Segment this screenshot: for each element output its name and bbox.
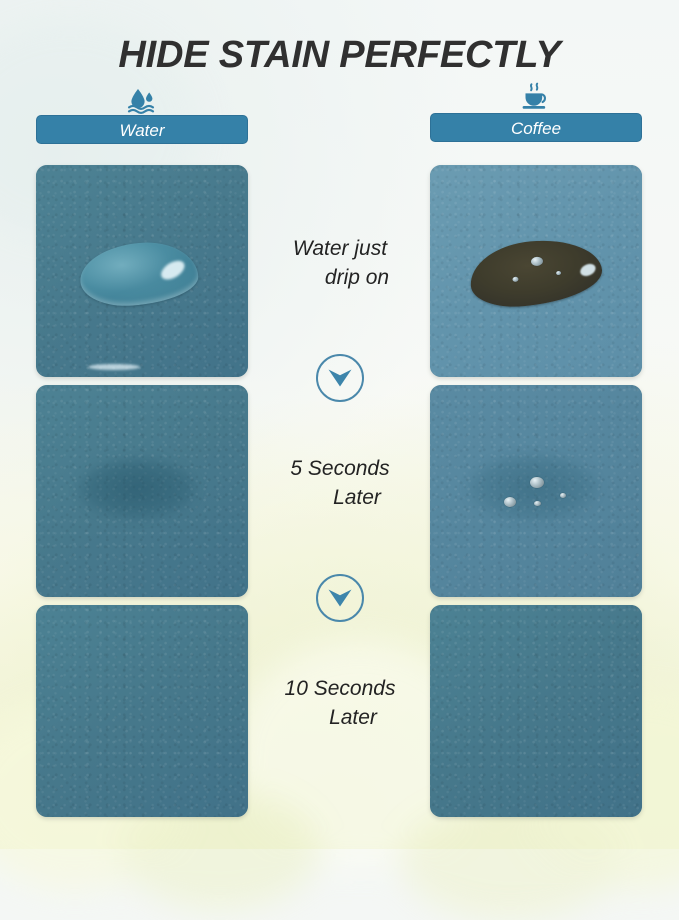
photo-coffee-10s bbox=[430, 605, 642, 817]
residual-bead bbox=[560, 493, 566, 498]
stage-arrow-2 bbox=[249, 574, 431, 622]
column-header-water: Water bbox=[36, 86, 248, 144]
damp-patch bbox=[468, 455, 598, 521]
photo-water-10s bbox=[36, 605, 248, 817]
coffee-bead bbox=[556, 271, 561, 275]
chevron-down-icon bbox=[316, 354, 364, 402]
page-title: HIDE STAIN PERFECTLY bbox=[0, 33, 679, 77]
photo-coffee-5s bbox=[430, 385, 642, 597]
stage-arrow-1 bbox=[249, 354, 431, 402]
puddle-edge-highlight bbox=[88, 364, 140, 370]
stage-label-5s: 5 Seconds Later bbox=[249, 454, 431, 512]
photo-water-drip bbox=[36, 165, 248, 377]
water-drop-icon bbox=[36, 86, 248, 114]
coffee-bead bbox=[531, 256, 544, 266]
coffee-bead bbox=[512, 277, 518, 283]
puddle-highlight bbox=[158, 257, 188, 283]
stage-label-line1: Water just bbox=[293, 237, 387, 260]
residual-bead bbox=[504, 497, 516, 507]
stage-label-drip: Water just drip on bbox=[249, 234, 431, 292]
stage-label-line1: 5 Seconds bbox=[290, 457, 389, 480]
badge-coffee: Coffee bbox=[430, 113, 642, 142]
stage-label-line2: Later bbox=[249, 703, 431, 732]
stage-label-line2: Later bbox=[249, 483, 431, 512]
residual-bead bbox=[530, 477, 544, 488]
stage-label-10s: 10 Seconds Later bbox=[249, 674, 431, 732]
residual-bead bbox=[534, 501, 541, 506]
stage-label-line2: drip on bbox=[249, 263, 431, 292]
spill-highlight bbox=[578, 262, 597, 279]
photo-water-5s bbox=[36, 385, 248, 597]
leather-grain bbox=[36, 605, 248, 817]
stage-label-line1: 10 Seconds bbox=[285, 677, 396, 700]
badge-water: Water bbox=[36, 115, 248, 144]
photo-coffee-drip bbox=[430, 165, 642, 377]
column-header-coffee: Coffee bbox=[430, 84, 642, 142]
chevron-down-icon bbox=[316, 574, 364, 622]
damp-patch bbox=[78, 459, 196, 519]
coffee-cup-icon bbox=[430, 84, 642, 112]
leather-grain bbox=[430, 605, 642, 817]
